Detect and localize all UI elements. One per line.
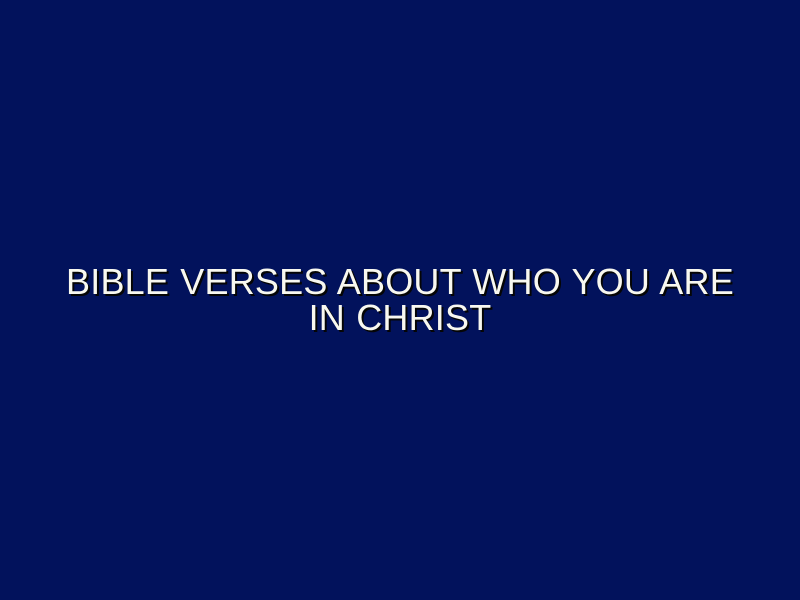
title-card: BIBLE VERSES ABOUT WHO YOU ARE IN CHRIST	[0, 0, 800, 600]
title-block: BIBLE VERSES ABOUT WHO YOU ARE IN CHRIST	[60, 264, 740, 336]
page-title: BIBLE VERSES ABOUT WHO YOU ARE IN CHRIST	[60, 264, 740, 336]
